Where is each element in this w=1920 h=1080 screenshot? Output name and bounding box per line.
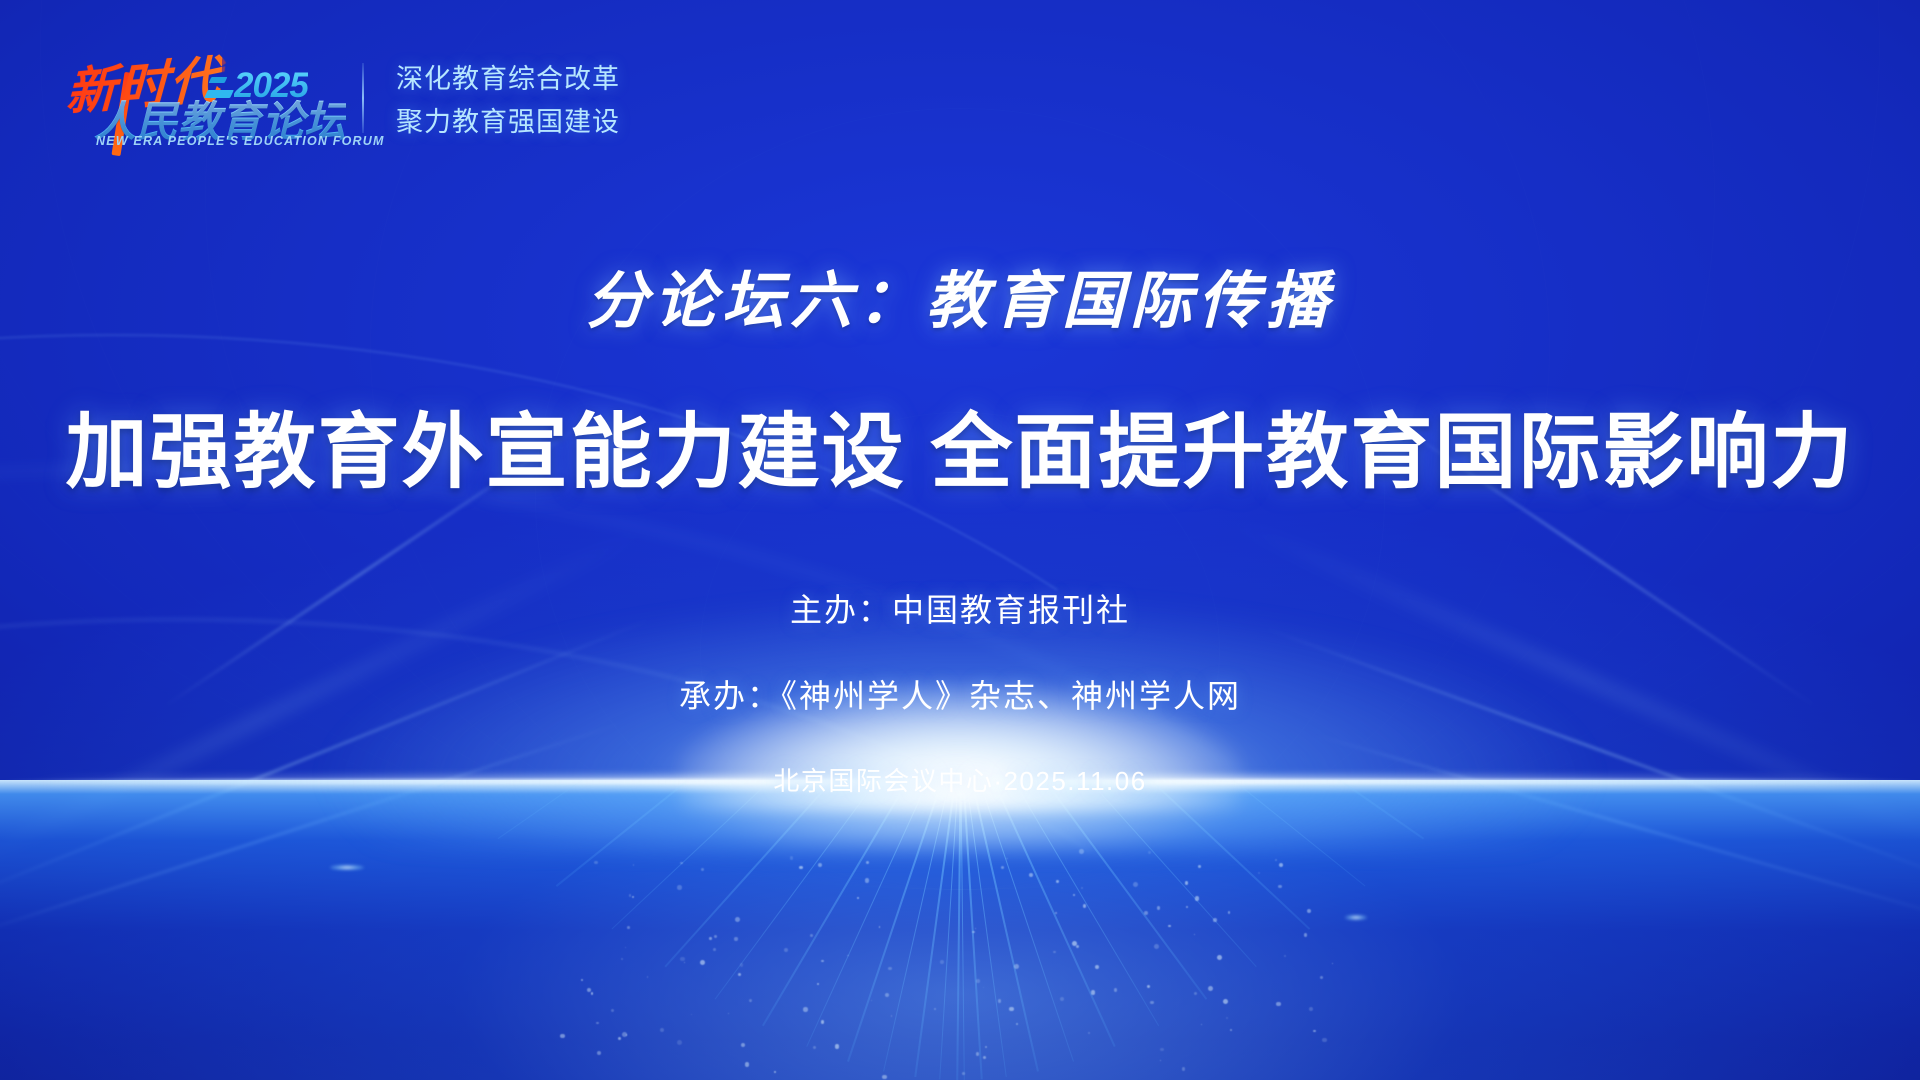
floor-speck [1009,1007,1014,1012]
floor-speck [976,1052,979,1055]
floor-speck [813,1046,816,1049]
floor-speck [1016,1023,1018,1025]
floor-speck [1198,865,1201,868]
event-backdrop-stage: 新时代 2025 人民教育论坛 NEW ERA PEOPLE'S EDUCATI… [0,0,1920,1080]
floor-speck [1213,918,1217,922]
floor-speck [799,866,802,869]
floor-speck [1322,1038,1326,1042]
floor-speck [1144,911,1148,915]
tagline-line-1: 深化教育综合改革 [396,57,620,96]
tagline-line-2: 聚力教育强国建设 [396,100,620,139]
floor-speck [1014,964,1019,969]
floor-speck [621,958,623,960]
floor-speck [627,926,630,929]
floor-speck [1194,992,1197,995]
floor-speck [735,917,740,922]
floor-speck [714,935,717,938]
floor-speck [835,1044,839,1048]
floor-speck [1230,1029,1232,1031]
floor-speck [934,1008,936,1010]
floor-speck [745,1062,750,1067]
floor-speck [1279,863,1283,867]
floor-speck [709,937,711,939]
floor-speck [660,1028,664,1032]
floor-sparkle-left [330,865,364,870]
floor-speck [1072,941,1077,946]
floor-speck [713,948,716,951]
event-header: 新时代 2025 人民教育论坛 NEW ERA PEOPLE'S EDUCATI… [58,42,620,154]
floor-speck [1056,880,1058,882]
floor-speck [1168,925,1170,927]
floor-speck [1201,1024,1202,1025]
floor-speck [591,992,594,995]
floor-speck [1228,911,1231,914]
floor-speck [821,960,824,963]
forum-logo: 新时代 2025 人民教育论坛 NEW ERA PEOPLE'S EDUCATI… [58,42,328,154]
floor-speck [975,928,976,929]
floor-speck [677,885,682,890]
logo-english-name: NEW ERA PEOPLE'S EDUCATION FORUM [96,134,385,148]
organizer-line: 承办：《神州学人》杂志、神州学人网 [0,671,1920,717]
floor-speck [976,979,980,983]
floor-speck [1154,944,1159,949]
floor-speck [1313,1030,1316,1033]
floor-speck [1006,858,1007,859]
floor-speck [594,861,597,864]
floor-speck [1320,976,1323,979]
page-title: 加强教育外宣能力建设 全面提升教育国际影响力 [0,385,1920,504]
floor-speck [882,1075,887,1080]
floor-speck [803,1007,807,1011]
floor-speck [680,862,683,865]
floor-speck [1160,1048,1164,1052]
floor-speck [734,937,737,940]
sub-forum-label: 分论坛六：教育国际传播 [0,250,1920,340]
floor-speck [633,864,634,865]
header-divider [362,63,364,133]
floor-speck [1275,859,1277,861]
logo-accent-dash-small [209,77,228,83]
event-meta-block: 主办：中国教育报刊社 承办：《神州学人》杂志、神州学人网 北京国际会议中心·20… [0,585,1920,798]
host-line: 主办：中国教育报刊社 [0,585,1920,631]
floor-speck [1079,849,1084,854]
header-tagline: 深化教育综合改革 聚力教育强国建设 [396,57,620,139]
floor-speck [847,955,848,956]
floor-speck [1114,988,1118,992]
floor-speck [1083,904,1087,908]
floor-speck [962,1072,965,1075]
floor-speck [817,983,819,985]
floor-speck [1217,955,1222,960]
floor-speck [1095,965,1099,969]
floor-speck [1133,882,1138,887]
floor-speck [865,878,869,882]
floor-speck [1055,912,1056,913]
floor-speck [866,861,869,864]
floor-speck [1073,894,1074,895]
venue-date-line: 北京国际会议中心·2025.11.06 [0,761,1920,798]
floor-speck [632,896,634,898]
floor-speck [857,897,859,899]
floor-speck [790,856,793,859]
floor-speck [1147,985,1150,988]
floor-speck [774,1071,776,1073]
floor-speck [888,967,892,971]
floor-sparkle-right [1345,915,1367,920]
floor-speck [728,1013,729,1014]
